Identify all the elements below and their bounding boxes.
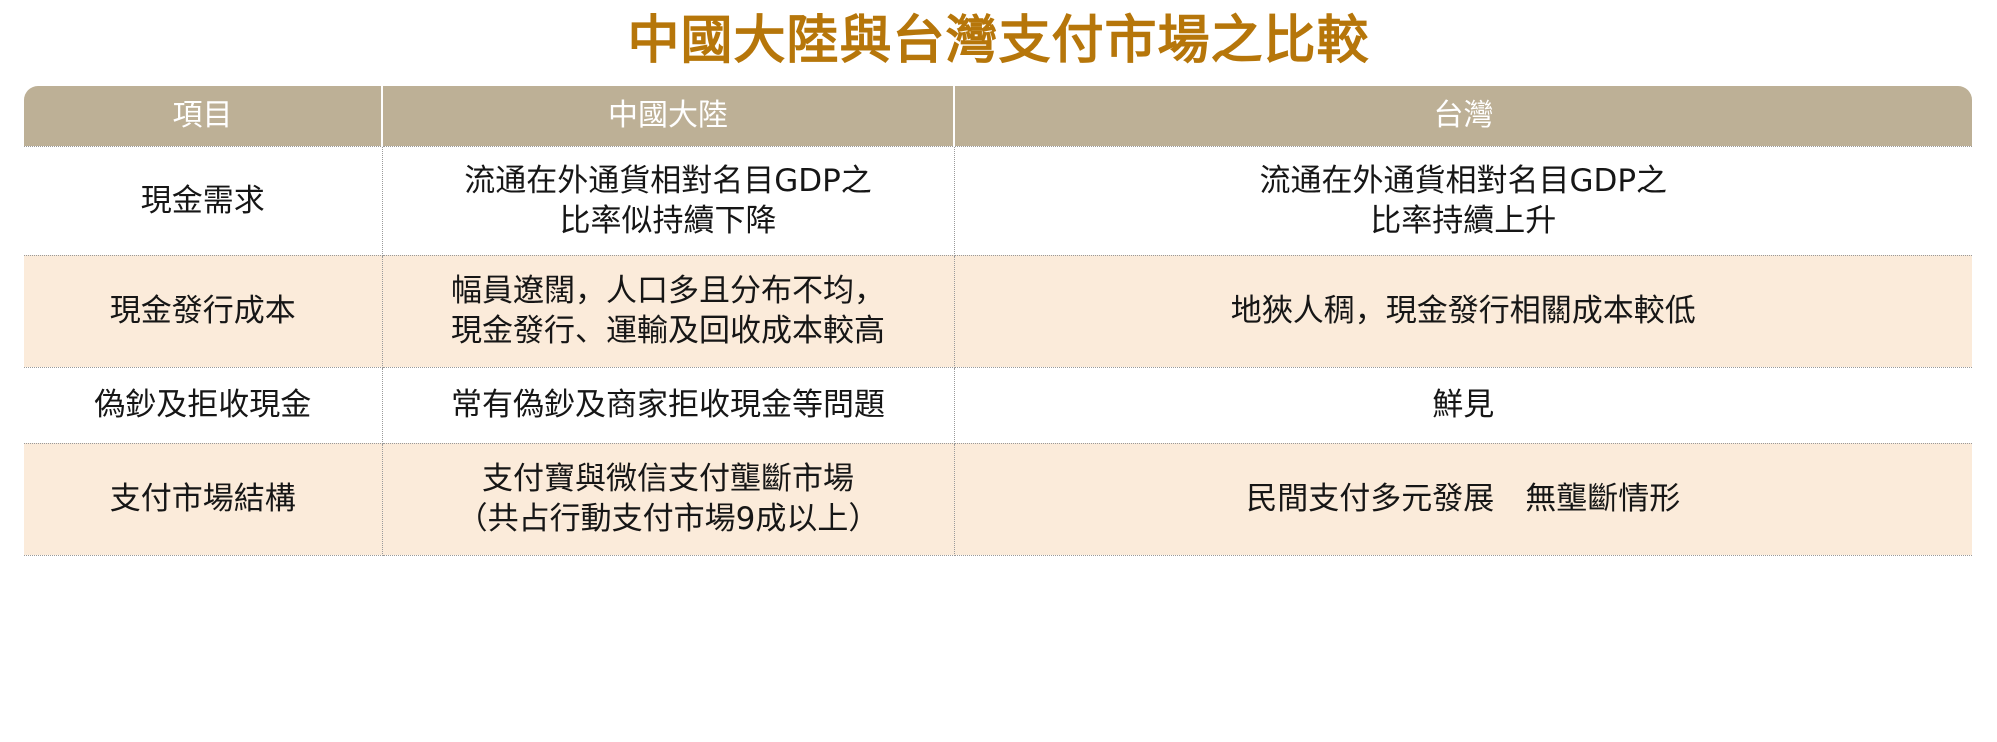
- row-item-label: 現金發行成本: [24, 255, 382, 367]
- header-row: 項目 中國大陸 台灣: [24, 86, 1972, 146]
- cell-line: 現金發行、運輸及回收成本較高: [393, 311, 944, 351]
- row-china-cell: 流通在外通貨相對名目GDP之 比率似持續下降: [382, 146, 954, 255]
- column-header-china: 中國大陸: [382, 86, 954, 146]
- table-row: 現金需求 流通在外通貨相對名目GDP之 比率似持續下降 流通在外通貨相對名目GD…: [24, 146, 1972, 255]
- row-china-cell: 支付寶與微信支付壟斷市場 （共占行動支付市場9成以上）: [382, 443, 954, 555]
- cell-line: 鮮見: [965, 385, 1963, 425]
- row-taiwan-cell: 民間支付多元發展 無壟斷情形: [954, 443, 1972, 555]
- cell-line: 常有偽鈔及商家拒收現金等問題: [393, 385, 944, 425]
- comparison-table-container: 項目 中國大陸 台灣 現金需求 流通在外通貨相對名目GDP之 比率似持續下降 流…: [24, 86, 1972, 556]
- row-taiwan-cell: 鮮見: [954, 367, 1972, 443]
- cell-line: 民間支付多元發展 無壟斷情形: [965, 479, 1963, 519]
- row-item-label: 偽鈔及拒收現金: [24, 367, 382, 443]
- row-taiwan-cell: 地狹人稠，現金發行相關成本較低: [954, 255, 1972, 367]
- cell-line: 比率似持續下降: [393, 201, 944, 241]
- table-row: 偽鈔及拒收現金 常有偽鈔及商家拒收現金等問題 鮮見: [24, 367, 1972, 443]
- comparison-table: 項目 中國大陸 台灣 現金需求 流通在外通貨相對名目GDP之 比率似持續下降 流…: [24, 86, 1972, 556]
- cell-line: （共占行動支付市場9成以上）: [393, 499, 944, 539]
- row-china-cell: 常有偽鈔及商家拒收現金等問題: [382, 367, 954, 443]
- cell-line: 流通在外通貨相對名目GDP之: [393, 161, 944, 201]
- table-body: 現金需求 流通在外通貨相對名目GDP之 比率似持續下降 流通在外通貨相對名目GD…: [24, 146, 1972, 555]
- page-title: 中國大陸與台灣支付市場之比較: [0, 8, 1997, 74]
- row-item-label: 現金需求: [24, 146, 382, 255]
- table-row: 現金發行成本 幅員遼闊，人口多且分布不均， 現金發行、運輸及回收成本較高 地狹人…: [24, 255, 1972, 367]
- row-china-cell: 幅員遼闊，人口多且分布不均， 現金發行、運輸及回收成本較高: [382, 255, 954, 367]
- column-header-taiwan: 台灣: [954, 86, 1972, 146]
- cell-line: 比率持續上升: [965, 201, 1963, 241]
- table-header: 項目 中國大陸 台灣: [24, 86, 1972, 146]
- comparison-table-page: 中國大陸與台灣支付市場之比較 項目 中國大陸 台灣 現金需求 流通在外通貨相對名…: [0, 0, 1997, 742]
- table-row: 支付市場結構 支付寶與微信支付壟斷市場 （共占行動支付市場9成以上） 民間支付多…: [24, 443, 1972, 555]
- cell-line: 幅員遼闊，人口多且分布不均，: [393, 271, 944, 311]
- row-taiwan-cell: 流通在外通貨相對名目GDP之 比率持續上升: [954, 146, 1972, 255]
- cell-line: 支付寶與微信支付壟斷市場: [393, 459, 944, 499]
- column-header-item: 項目: [24, 86, 382, 146]
- cell-line: 流通在外通貨相對名目GDP之: [965, 161, 1963, 201]
- cell-line: 地狹人稠，現金發行相關成本較低: [965, 291, 1963, 331]
- row-item-label: 支付市場結構: [24, 443, 382, 555]
